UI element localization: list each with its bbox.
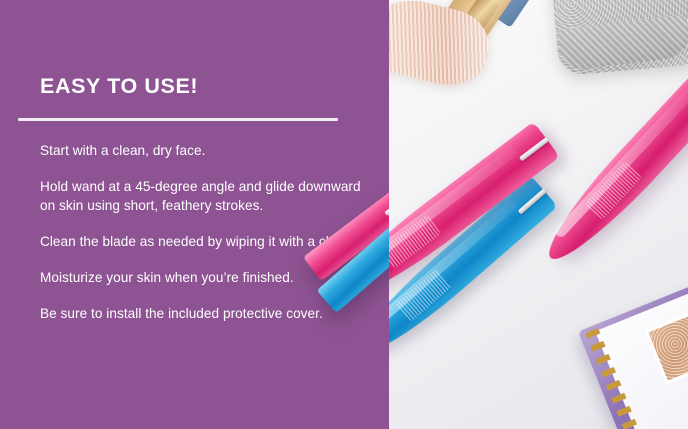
palette-pan-bronze <box>644 307 688 385</box>
product-photo <box>389 0 688 429</box>
page-title: EASY TO USE! <box>40 76 198 98</box>
instruction-step: Hold wand at a 45-degree angle and glide… <box>40 177 370 215</box>
instruction-step: Moisturize your skin when you’re finishe… <box>40 268 370 287</box>
title-divider <box>18 118 338 121</box>
easy-to-use-banner: EASY TO USE! Start with a clean, dry fac… <box>0 0 688 429</box>
instructions-panel: EASY TO USE! Start with a clean, dry fac… <box>0 0 389 429</box>
instruction-step: Be sure to install the included protecti… <box>40 304 370 323</box>
instruction-step: Start with a clean, dry face. <box>40 141 370 160</box>
instruction-steps-list: Start with a clean, dry face. Hold wand … <box>40 141 370 323</box>
instruction-step: Clean the blade as needed by wiping it w… <box>40 232 370 251</box>
